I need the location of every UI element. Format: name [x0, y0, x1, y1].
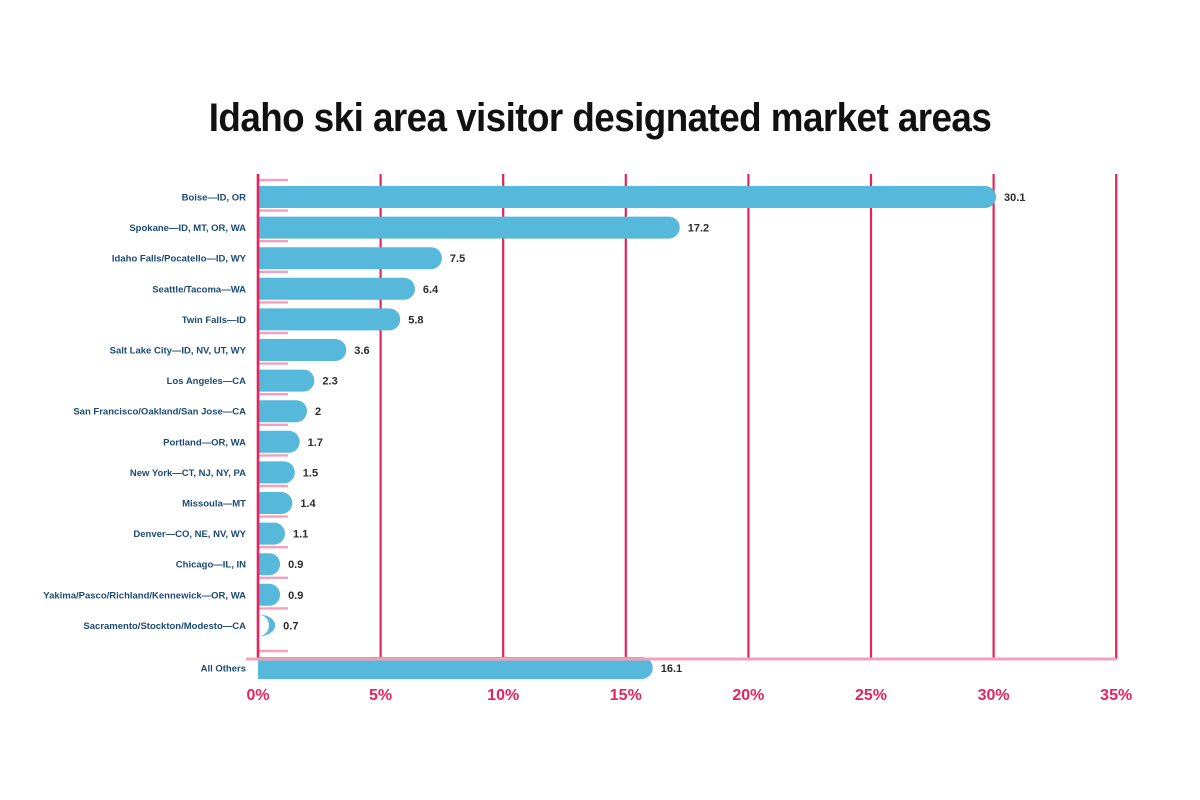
category-label: All Others	[201, 664, 246, 675]
bar-value-label: 6.4	[423, 284, 439, 296]
bar-value-label: 1.5	[303, 467, 318, 479]
bar-value-label: 2.3	[322, 376, 337, 388]
x-axis-tick-label: 30%	[978, 687, 1010, 704]
category-label: Los Angeles—CA	[167, 376, 246, 387]
bar-value-label: 1.4	[300, 498, 316, 510]
x-axis-tick-label: 35%	[1100, 687, 1132, 704]
category-label: Portland—OR, WA	[163, 437, 246, 448]
bar	[258, 370, 314, 392]
bar	[258, 523, 285, 545]
bar-value-label: 0.7	[283, 620, 298, 632]
bar-value-label: 16.1	[661, 663, 682, 675]
category-label: New York—CT, NJ, NY, PA	[130, 468, 246, 479]
bar-value-label: 5.8	[408, 314, 423, 326]
bar-value-label: 0.9	[288, 559, 303, 571]
bar	[258, 553, 280, 575]
axis-lines-layer	[246, 174, 1116, 659]
category-label: Seattle/Tacoma—WA	[152, 284, 246, 295]
category-labels-layer: Boise—ID, ORSpokane—ID, MT, OR, WAIdaho …	[43, 193, 246, 675]
bar-value-label: 7.5	[450, 253, 465, 265]
bar-value-label: 3.6	[354, 345, 369, 357]
bar	[258, 339, 346, 361]
x-axis-tick-label: 10%	[487, 687, 519, 704]
x-axis-tick-label: 20%	[732, 687, 764, 704]
bar	[258, 492, 292, 514]
category-label: Denver—CO, NE, NV, WY	[133, 529, 246, 540]
bar	[258, 217, 680, 239]
bar-value-label: 0.9	[288, 590, 303, 602]
category-label: San Francisco/Oakland/San Jose—CA	[73, 407, 246, 418]
x-axis-tick-label: 15%	[610, 687, 642, 704]
bar	[258, 461, 295, 483]
category-label: Boise—ID, OR	[182, 193, 247, 204]
category-label: Idaho Falls/Pocatello—ID, WY	[112, 254, 247, 265]
category-label: Yakima/Pasco/Richland/Kennewick—OR, WA	[43, 590, 246, 601]
bar	[258, 584, 280, 606]
bar-value-label: 1.7	[308, 437, 323, 449]
category-label: Twin Falls—ID	[182, 315, 246, 326]
bar-value-label: 1.1	[293, 529, 308, 541]
bar-value-label: 2	[315, 406, 321, 418]
category-label: Chicago—IL, IN	[176, 560, 246, 571]
bar	[258, 400, 307, 422]
x-axis-tick-label: 0%	[246, 687, 269, 704]
x-axis-labels-layer: 0%5%10%15%20%25%30%35%	[246, 687, 1132, 704]
bar	[258, 247, 442, 269]
bar-chart: Boise—ID, ORSpokane—ID, MT, OR, WAIdaho …	[0, 0, 1200, 800]
bar	[258, 278, 415, 300]
bar	[258, 614, 275, 636]
category-label: Salt Lake City—ID, NV, UT, WY	[110, 346, 247, 357]
bar	[258, 431, 300, 453]
bar	[258, 186, 996, 208]
bar-value-label: 17.2	[688, 223, 709, 235]
chart-page: Idaho ski area visitor designated market…	[0, 0, 1200, 800]
x-axis-tick-label: 5%	[369, 687, 392, 704]
category-label: Missoula—MT	[182, 499, 246, 510]
bar	[258, 308, 400, 330]
category-label: Spokane—ID, MT, OR, WA	[129, 223, 246, 234]
bar-value-label: 30.1	[1004, 192, 1025, 204]
gridlines-layer	[381, 174, 1117, 659]
category-label: Sacramento/Stockton/Modesto—CA	[83, 621, 246, 632]
bars-layer	[258, 186, 996, 679]
x-axis-tick-label: 25%	[855, 687, 887, 704]
